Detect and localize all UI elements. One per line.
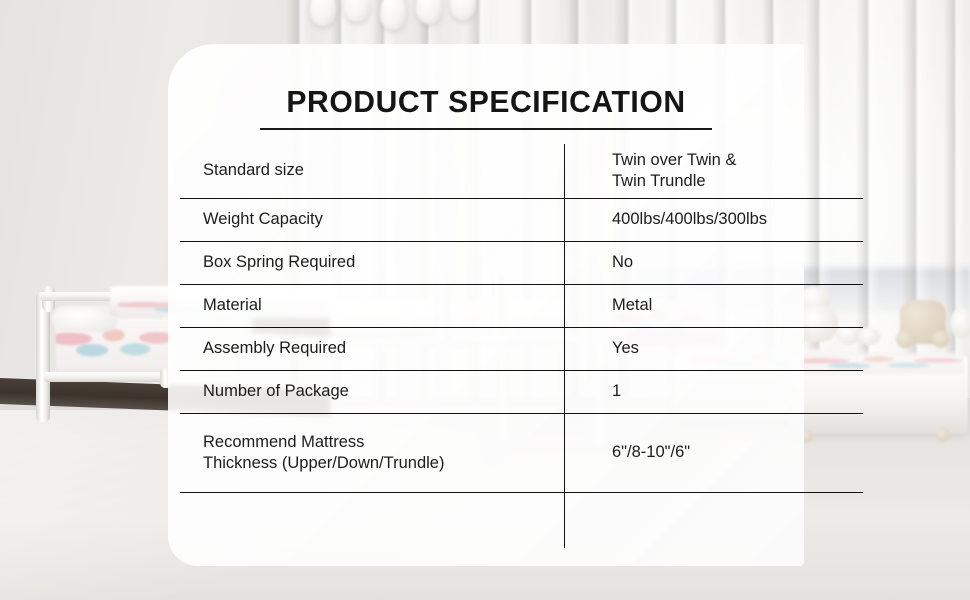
spec-value: 400lbs/400lbs/300lbs [565,199,864,242]
bunk-bed-rail [44,372,176,382]
spec-value: Yes [565,328,864,371]
table-row: Assembly Required Yes [180,328,863,371]
table-row: Standard size Twin over Twin & Twin Trun… [180,144,863,199]
spec-label: Assembly Required [180,328,565,371]
table-row: Material Metal [180,285,863,328]
specification-panel: PRODUCT SPECIFICATION Standard size Twin… [168,44,804,566]
toy-car-wheel [932,330,950,348]
spec-label: Recommend Mattress Thickness (Upper/Down… [180,414,565,493]
trundle-caster [936,428,950,442]
pillow [52,306,118,332]
spec-value: 1 [565,371,864,414]
table-row: Weight Capacity 400lbs/400lbs/300lbs [180,199,863,242]
spec-label: Box Spring Required [180,242,565,285]
spec-label: Weight Capacity [180,199,565,242]
pendant-light-bulb [380,0,406,30]
spacer-cell [180,493,565,549]
spec-label: Material [180,285,565,328]
spec-value: No [565,242,864,285]
title-underline [260,128,712,130]
spec-value: Twin over Twin & Twin Trundle [565,144,864,199]
specification-table: Standard size Twin over Twin & Twin Trun… [180,144,863,548]
product-specification-image: PRODUCT SPECIFICATION Standard size Twin… [0,0,970,600]
page-title: PRODUCT SPECIFICATION [178,84,795,120]
spec-value: 6"/8-10"/6" [565,414,864,493]
toy-car-wheel [896,330,914,348]
plush-toy-secondary [950,308,970,338]
spec-label: Number of Package [180,371,565,414]
spec-value: Metal [565,285,864,328]
table-row: Box Spring Required No [180,242,863,285]
spec-label: Standard size [180,144,565,199]
table-footer-spacer [180,493,863,549]
table-row: Number of Package 1 [180,371,863,414]
table-row: Recommend Mattress Thickness (Upper/Down… [180,414,863,493]
spacer-cell [565,493,864,549]
